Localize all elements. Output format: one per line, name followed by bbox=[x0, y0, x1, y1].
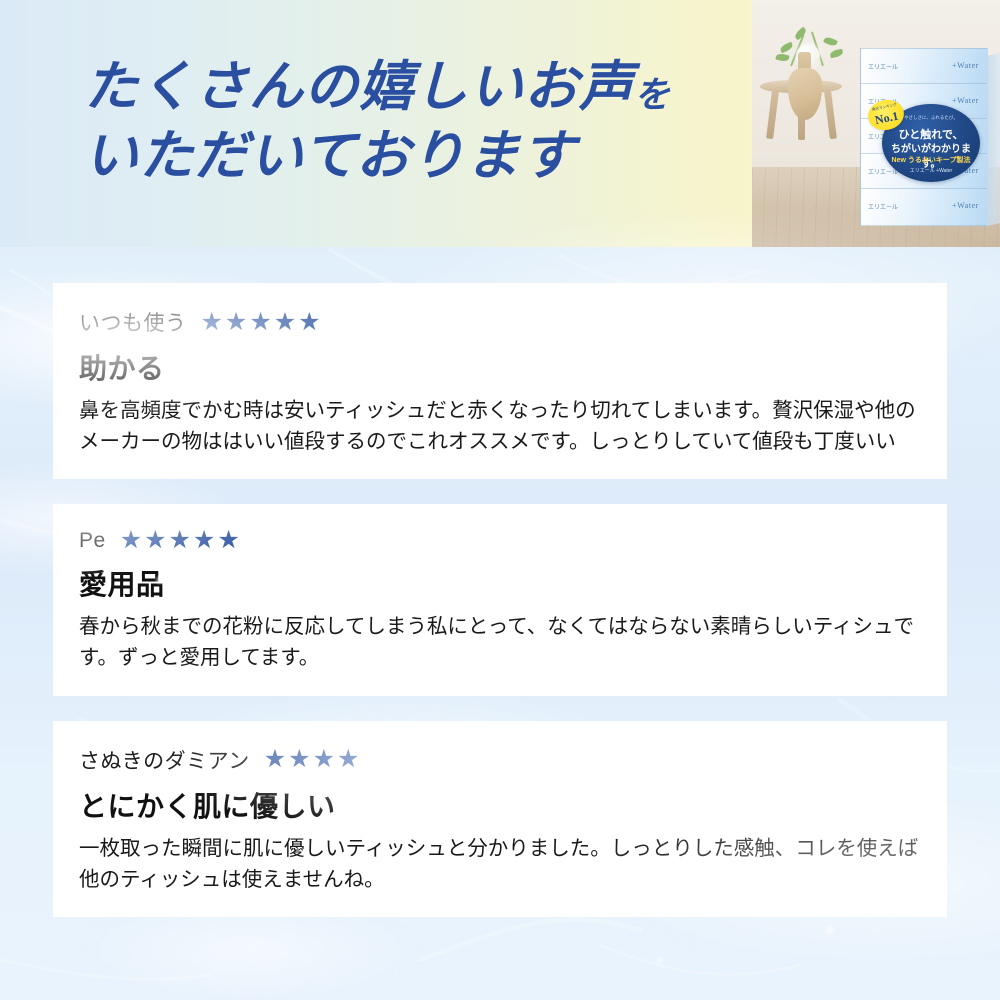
headline-line-1: たくさんの嬉しいお声 bbox=[84, 54, 634, 118]
woven-vase bbox=[788, 68, 822, 120]
headline-particle: を bbox=[634, 74, 671, 116]
page-title: たくさんの嬉しいお声を いただいております bbox=[84, 52, 671, 189]
review-body: 春から秋までの花粉に反応してしまう私にとって、なくてはならない素晴らしいティシュ… bbox=[79, 611, 921, 673]
review-card: いつも使う ★★★★★ 助かる 鼻を高頻度でかむ時は安いティッシュだと赤くなった… bbox=[53, 283, 947, 479]
leaf bbox=[779, 42, 794, 54]
review-body: 鼻を高頻度でかむ時は安いティッシュだと赤くなったり切れてしまいます。贅沢保湿や他… bbox=[79, 395, 921, 457]
review-header: さぬきのダミアン ★★★★ bbox=[79, 745, 921, 775]
star-rating-icon: ★★★★★ bbox=[120, 528, 242, 553]
box-watermark: +Water bbox=[952, 96, 979, 105]
review-card: さぬきのダミアン ★★★★ とにかく肌に優しい 一枚取った瞬間に肌に優しいティッ… bbox=[53, 721, 947, 917]
leaf bbox=[823, 36, 838, 48]
star-rating-icon: ★★★★ bbox=[264, 747, 362, 772]
review-title: とにかく肌に優しい bbox=[79, 785, 921, 825]
tissue-box-stack: エリエール +Water エリエール +Water エリエール +Water エ… bbox=[860, 48, 990, 226]
star-rating-icon: ★★★★★ bbox=[201, 310, 323, 335]
review-author: さぬきのダミアン bbox=[79, 745, 250, 775]
review-header: Pe ★★★★★ bbox=[79, 528, 921, 553]
review-title: 愛用品 bbox=[79, 563, 921, 603]
review-title: 助かる bbox=[79, 347, 921, 387]
label-footer: エリエール +Water bbox=[882, 167, 980, 174]
box-watermark: +Water bbox=[952, 201, 979, 210]
review-author: Pe bbox=[79, 529, 106, 553]
review-author: いつも使う bbox=[79, 307, 187, 337]
label-new-text: New うるおいキープ製法 bbox=[882, 155, 980, 165]
product-photo: エリエール +Water エリエール +Water エリエール +Water エ… bbox=[752, 0, 1000, 247]
tissue-box: エリエール +Water bbox=[860, 188, 988, 226]
leaf bbox=[775, 53, 789, 63]
stack-side-boxes bbox=[988, 52, 1000, 225]
page-root: たくさんの嬉しいお声を いただいております bbox=[0, 0, 1000, 1000]
tissue-box: エリエール +Water bbox=[860, 48, 988, 86]
box-brand-mark: エリエール bbox=[868, 202, 898, 211]
review-card: Pe ★★★★★ 愛用品 春から秋までの花粉に反応してしまう私にとって、なくては… bbox=[53, 504, 947, 695]
review-header: いつも使う ★★★★★ bbox=[79, 307, 921, 337]
review-body: 一枚取った瞬間に肌に優しいティッシュと分かりました。しっとりした感触、コレを使え… bbox=[79, 833, 921, 895]
leaf bbox=[829, 49, 843, 59]
headline-line-2: いただいております bbox=[84, 123, 576, 187]
review-list: いつも使う ★★★★★ 助かる 鼻を高頻度でかむ時は安いティッシュだと赤くなった… bbox=[53, 283, 947, 942]
header-banner: たくさんの嬉しいお声を いただいております bbox=[0, 0, 1000, 247]
box-brand-mark: エリエール bbox=[868, 62, 898, 71]
flower-arrangement bbox=[760, 28, 852, 128]
box-watermark: +Water bbox=[952, 61, 979, 70]
